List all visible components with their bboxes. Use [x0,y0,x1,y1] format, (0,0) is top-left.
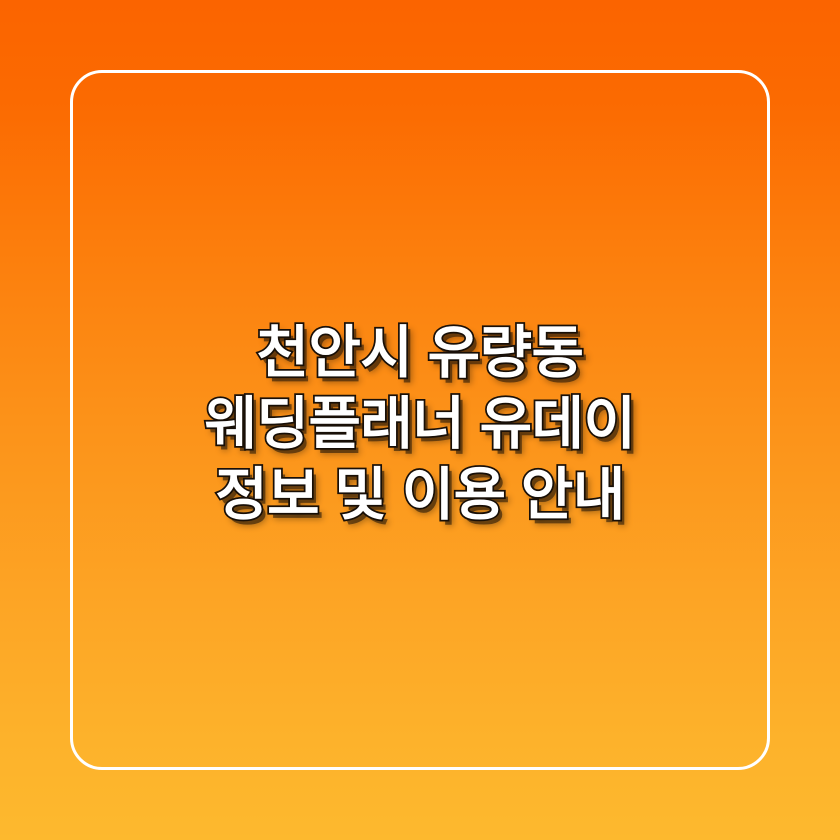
headline-line-3: 정보 및 이용 안내 [60,460,780,531]
headline-line-2: 웨딩플래너 유데이 [60,389,780,460]
thumbnail-canvas: 천안시 유량동 웨딩플래너 유데이 정보 및 이용 안내 [0,0,840,840]
headline-line-1: 천안시 유량동 [60,318,780,389]
headline-block: 천안시 유량동 웨딩플래너 유데이 정보 및 이용 안내 [0,318,840,531]
